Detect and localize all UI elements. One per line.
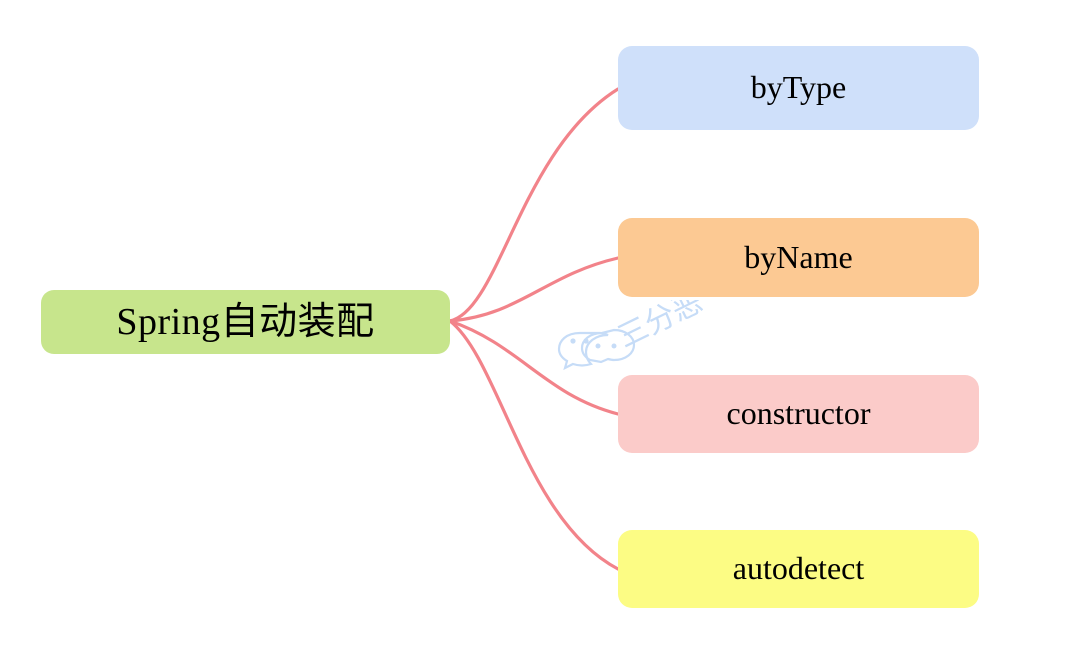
node-bytype-label: byType xyxy=(751,70,847,105)
node-autodetect[interactable]: autodetect xyxy=(618,530,979,608)
connector-to-byname xyxy=(450,258,618,321)
node-byname[interactable]: byName xyxy=(618,218,979,297)
node-constructor-label: constructor xyxy=(727,396,871,431)
node-byname-label: byName xyxy=(744,240,852,275)
node-autodetect-label: autodetect xyxy=(733,551,864,586)
node-bytype[interactable]: byType xyxy=(618,46,979,130)
node-root[interactable]: Spring自动装配 xyxy=(41,290,450,354)
node-constructor[interactable]: constructor xyxy=(618,375,979,453)
node-root-label-cjk: 自动装配 xyxy=(221,299,375,343)
wechat-bubbles-icon xyxy=(559,330,634,368)
connector-to-bytype xyxy=(450,89,618,321)
connector-to-constructor xyxy=(450,321,618,414)
node-root-label: Spring自动装配 xyxy=(116,301,374,344)
watermark-text: 三分恶 xyxy=(612,300,708,355)
mindmap-canvas: 三分恶 Spring自动装配 byType byName constructor… xyxy=(0,0,1092,646)
connector-to-autodetect xyxy=(450,321,618,569)
